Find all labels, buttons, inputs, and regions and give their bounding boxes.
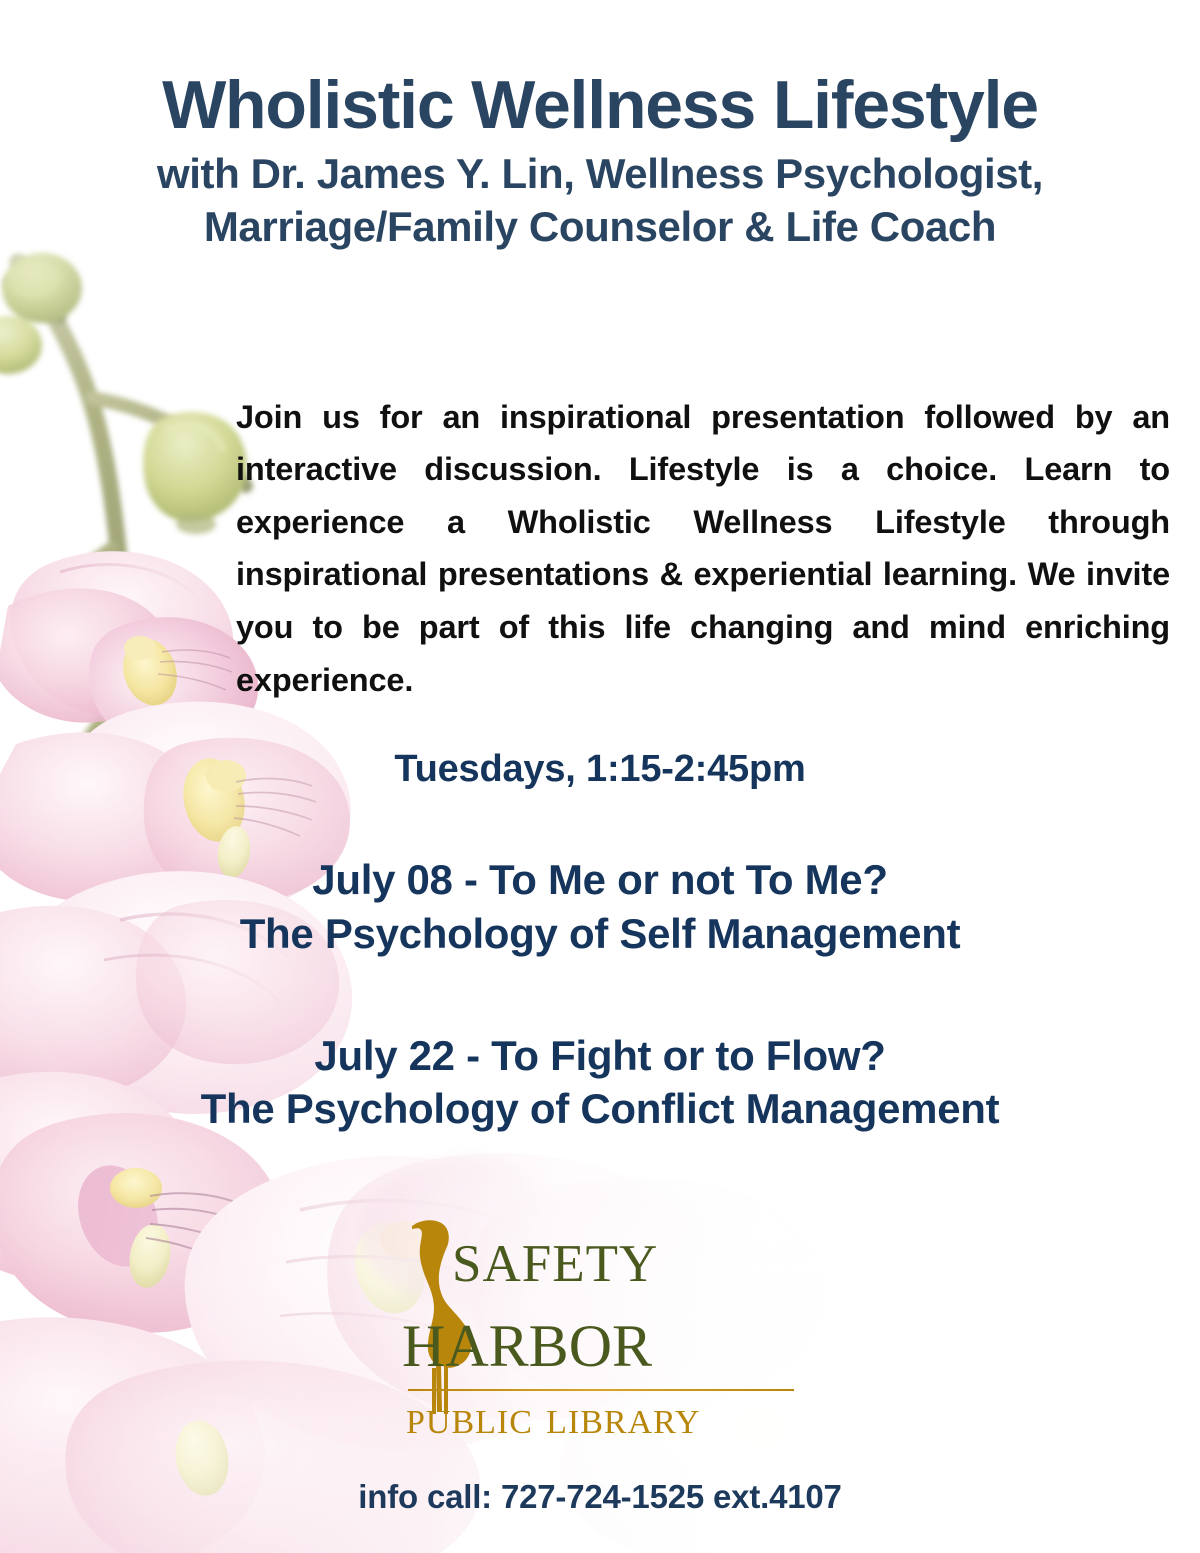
logo-word-public-library: Public Library [406,1392,701,1441]
safety-harbor-public-library-logo: Safety Harbor Public Library [390,1212,810,1442]
info-call-phone: info call: 727-724-1525 ext.4107 [0,1478,1200,1516]
session-2-subtitle: The Psychology of Conflict Management [0,1082,1200,1136]
session-1-subtitle: The Psychology of Self Management [0,907,1200,961]
subtitle-line-2: Marriage/Family Counselor & Life Coach [204,203,996,250]
session-2-title: July 22 - To Fight or to Flow? [0,1029,1200,1083]
description-paragraph: Join us for an inspirational presentatio… [236,391,1170,707]
subtitle-line-1: with Dr. James Y. Lin, Wellness Psycholo… [157,150,1043,197]
logo-word-harbor: Harbor [402,1294,652,1380]
title-block: Wholistic Wellness Lifestyle with Dr. Ja… [0,70,1200,254]
session-item-2: July 22 - To Fight or to Flow? The Psych… [0,1029,1200,1137]
schedule-time: Tuesdays, 1:15-2:45pm [0,748,1200,791]
subtitle-block: with Dr. James Y. Lin, Wellness Psycholo… [55,147,1145,255]
logo-word-safety: Safety [452,1218,658,1294]
flyer-page: Wholistic Wellness Lifestyle with Dr. Ja… [0,0,1200,1553]
session-item-1: July 08 - To Me or not To Me? The Psycho… [0,853,1200,961]
page-title: Wholistic Wellness Lifestyle [0,70,1200,141]
schedule-block: Tuesdays, 1:15-2:45pm July 08 - To Me or… [0,748,1200,1136]
session-1-title: July 08 - To Me or not To Me? [0,853,1200,907]
